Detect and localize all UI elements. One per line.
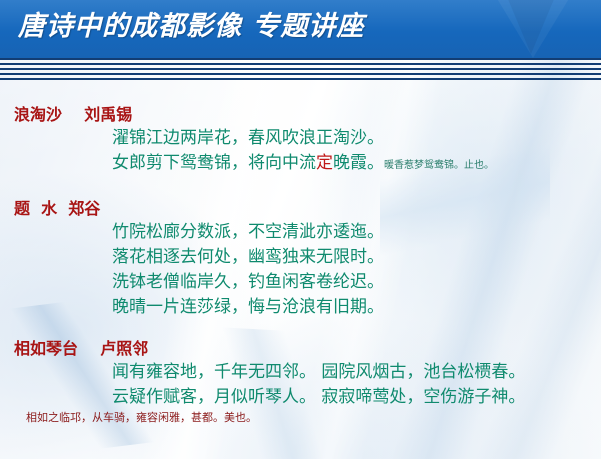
poem-line: 女郎剪下鸳鸯锦，将向中流定晚霞。暖香惹梦鸳鸯锦。止也。	[0, 151, 601, 178]
poem-footnote: 相如之临邛，从车骑，雍容闲雅，甚都。美也。	[0, 410, 601, 426]
poem-line: 洗钵老僧临岸久，钓鱼闲客卷纶迟。	[0, 270, 601, 295]
poem-line: 竹院松廊分数派，不空清泚亦逶迤。	[0, 220, 601, 245]
poem-title: 题 水 郑谷	[0, 198, 601, 220]
poem-line: 闻有雍容地，千年无四邻。 园院风烟古，池台松槚春。	[0, 360, 601, 385]
header-rule	[0, 78, 601, 80]
slide-content: 浪淘沙 刘禹锡 濯锦江边两岸花，春风吹浪正淘沙。 女郎剪下鸳鸯锦，将向中流定晚霞…	[0, 82, 601, 459]
header-rule	[0, 58, 601, 60]
poem-line-tail: 晚霞。	[333, 153, 384, 173]
poem-title: 浪淘沙 刘禹锡	[0, 104, 601, 126]
poem-inline-note: 暖香惹梦鸳鸯锦。	[384, 160, 464, 171]
poem-line: 云疑作赋客，月似听琴人。 寂寂啼莺处，空伤游子神。	[0, 385, 601, 410]
poem-block-3: 相如琴台 卢照邻 闻有雍容地，千年无四邻。 园院风烟古，池台松槚春。 云疑作赋客…	[0, 338, 601, 426]
poem-title: 相如琴台 卢照邻	[0, 338, 601, 360]
page-title: 唐诗中的成都影像 专题讲座	[18, 4, 364, 43]
poem-inline-note-underlined: 止也	[464, 160, 484, 171]
header-rule	[0, 63, 601, 65]
presentation-slide: 唐诗中的成都影像 专题讲座 浪淘沙 刘禹锡 濯锦江边两岸花，春风吹浪正淘沙。 女…	[0, 0, 601, 459]
poem-inline-note-end: 。	[484, 160, 494, 171]
poem-line-text: 女郎剪下鸳鸯锦，将向中流	[112, 153, 316, 173]
header-rule-group	[0, 58, 601, 82]
slide-header-banner: 唐诗中的成都影像 专题讲座	[0, 0, 601, 58]
poem-line: 晚晴一片连莎绿，悔与沧浪有旧期。	[0, 295, 601, 320]
poem-line-highlight: 定	[316, 153, 333, 173]
header-rule	[0, 73, 601, 75]
poem-block-2: 题 水 郑谷 竹院松廊分数派，不空清泚亦逶迤。 落花相逐去何处，幽鸾独来无限时。…	[0, 198, 601, 320]
poem-line: 落花相逐去何处，幽鸾独来无限时。	[0, 245, 601, 270]
poem-block-1: 浪淘沙 刘禹锡 濯锦江边两岸花，春风吹浪正淘沙。 女郎剪下鸳鸯锦，将向中流定晚霞…	[0, 104, 601, 178]
header-rule	[0, 68, 601, 70]
poem-line: 濯锦江边两岸花，春风吹浪正淘沙。	[0, 126, 601, 151]
